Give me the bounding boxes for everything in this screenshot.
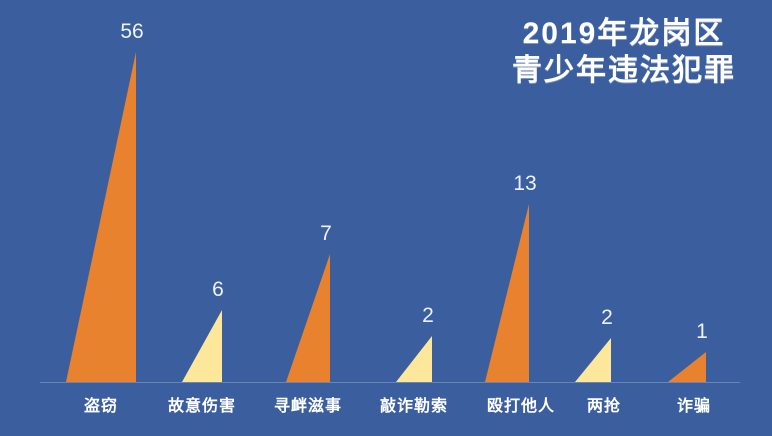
- bar-triangle: [286, 254, 330, 382]
- category-label-敲诈勒索: 敲诈勒索: [380, 392, 448, 416]
- bar-故意伤害[interactable]: [182, 310, 222, 382]
- bar-两抢[interactable]: [575, 338, 611, 382]
- bar-value-寻衅滋事: 7: [320, 222, 332, 246]
- bar-殴打他人[interactable]: [485, 204, 529, 382]
- category-label-两抢: 两抢: [587, 392, 621, 416]
- category-label-故意伤害: 故意伤害: [168, 392, 236, 416]
- bar-敲诈勒索[interactable]: [396, 336, 432, 382]
- category-label-寻衅滋事: 寻衅滋事: [274, 392, 342, 416]
- category-label-殴打他人: 殴打他人: [487, 392, 555, 416]
- bar-triangle: [575, 338, 611, 382]
- bar-value-殴打他人: 13: [513, 172, 536, 196]
- plot-area: 56盗窃6故意伤害7寻衅滋事2敲诈勒索13殴打他人2两抢1诈骗: [0, 0, 772, 436]
- bar-诈骗[interactable]: [668, 352, 706, 382]
- category-label-诈骗: 诈骗: [677, 392, 711, 416]
- bar-triangle: [668, 352, 706, 382]
- bar-寻衅滋事[interactable]: [286, 254, 330, 382]
- bar-value-敲诈勒索: 2: [422, 304, 434, 328]
- chart-container: 2019年龙岗区 青少年违法犯罪 56盗窃6故意伤害7寻衅滋事2敲诈勒索13殴打…: [0, 0, 772, 436]
- bar-triangle: [182, 310, 222, 382]
- bar-value-盗窃: 56: [120, 20, 143, 44]
- axis-baseline: [40, 382, 740, 383]
- bar-triangle: [485, 204, 529, 382]
- bar-value-故意伤害: 6: [212, 278, 224, 302]
- bar-triangle: [66, 52, 136, 382]
- category-label-盗窃: 盗窃: [84, 392, 118, 416]
- bar-value-诈骗: 1: [696, 320, 708, 344]
- bar-triangle: [396, 336, 432, 382]
- bar-盗窃[interactable]: [66, 52, 136, 382]
- bar-value-两抢: 2: [601, 306, 613, 330]
